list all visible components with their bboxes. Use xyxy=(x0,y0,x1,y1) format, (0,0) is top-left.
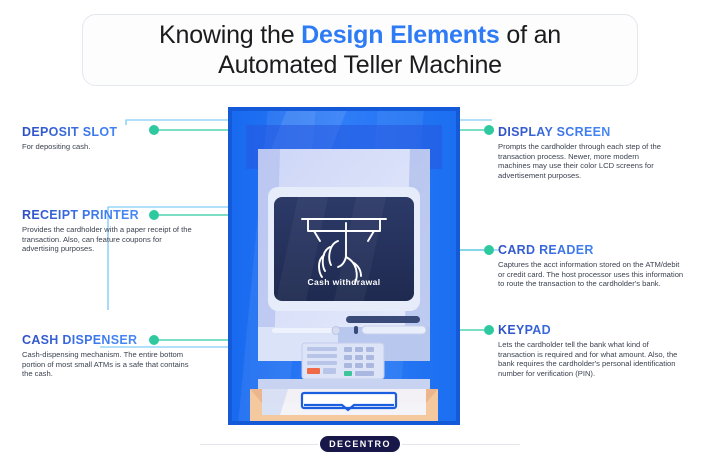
title-line-2: Automated Teller Machine xyxy=(218,51,502,79)
atm-illustration: Cash withdrawal xyxy=(228,107,460,425)
receipt-printer-heading: RECEIPT PRINTER xyxy=(22,208,200,222)
deposit-slot-body: For depositing cash. xyxy=(22,142,197,152)
cash-dispenser-heading: CASH DISPENSER xyxy=(22,333,200,347)
title-accent: Design Elements xyxy=(301,21,499,49)
label-deposit-slot: DEPOSIT SLOT For depositing cash. xyxy=(22,125,200,152)
display-screen-body: Prompts the cardholder through each step… xyxy=(498,142,673,180)
deposit-slot-heading: DEPOSIT SLOT xyxy=(22,125,200,139)
cash-dispenser-tray xyxy=(302,393,396,410)
infographic-root: Knowing the Design Elements of an Automa… xyxy=(0,0,720,465)
brand-logo: DECENTRO xyxy=(318,434,402,454)
label-cash-dispenser: CASH DISPENSER Cash-dispensing mechanism… xyxy=(22,333,200,379)
label-card-reader: CARD READER Captures the acct informatio… xyxy=(498,243,684,289)
title-part-2: of an xyxy=(500,21,561,49)
receipt-printer-slot xyxy=(346,316,420,323)
card-reader-body: Captures the acct information stored on … xyxy=(498,260,684,289)
page-title: Knowing the Design Elements of an Automa… xyxy=(159,20,561,80)
deposit-slot xyxy=(272,328,338,333)
brand-name: DECENTRO xyxy=(329,439,391,449)
page-title-box: Knowing the Design Elements of an Automa… xyxy=(82,14,638,86)
receipt-printer-body: Provides the cardholder with a paper rec… xyxy=(22,225,197,254)
display-screen-heading: DISPLAY SCREEN xyxy=(498,125,678,139)
label-receipt-printer: RECEIPT PRINTER Provides the cardholder … xyxy=(22,208,200,254)
atm-svg: Cash withdrawal xyxy=(228,107,460,425)
card-reader-heading: CARD READER xyxy=(498,243,684,257)
label-display-screen: DISPLAY SCREEN Prompts the cardholder th… xyxy=(498,125,678,180)
atm-keypad xyxy=(302,343,384,379)
cash-dispenser-body: Cash-dispensing mechanism. The entire bo… xyxy=(22,350,197,379)
keypad-body: Lets the cardholder tell the bank what k… xyxy=(498,340,680,378)
label-keypad: KEYPAD Lets the cardholder tell the bank… xyxy=(498,323,684,378)
screen-caption: Cash withdrawal xyxy=(307,277,380,287)
keypad-heading: KEYPAD xyxy=(498,323,684,337)
card-reader-slot xyxy=(362,326,426,334)
title-part-1: Knowing the xyxy=(159,21,301,49)
